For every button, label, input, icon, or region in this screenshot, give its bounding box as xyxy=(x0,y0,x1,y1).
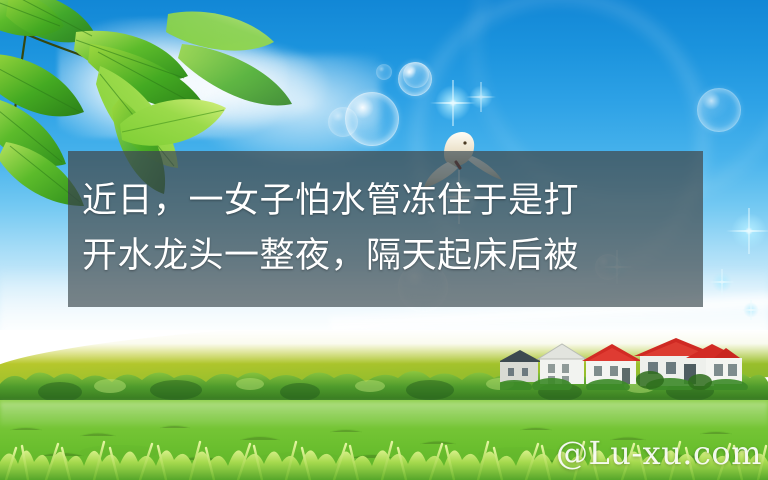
red-roof-villas xyxy=(500,338,768,390)
foreground-grass-blades xyxy=(0,432,768,480)
sparkle-star xyxy=(709,269,735,295)
caption-line-2: 开水龙头一整夜，隔天起床后被 xyxy=(82,229,693,284)
soap-bubble xyxy=(403,62,429,88)
caption-line-1: 近日，一女子怕水管冻住于是打 xyxy=(82,174,693,229)
sparkle-star xyxy=(466,82,496,112)
soap-bubble xyxy=(376,64,392,80)
sparkle-star xyxy=(726,208,768,254)
soap-bubble xyxy=(697,88,741,132)
cover-image-canvas: 近日，一女子怕水管冻住于是打 开水龙头一整夜，隔天起床后被 @Lu-xu.com xyxy=(0,0,768,480)
soap-bubble xyxy=(328,107,358,137)
caption-text-block: 近日，一女子怕水管冻住于是打 开水龙头一整夜，隔天起床后被 xyxy=(68,151,703,307)
sparkle-star xyxy=(741,300,761,320)
